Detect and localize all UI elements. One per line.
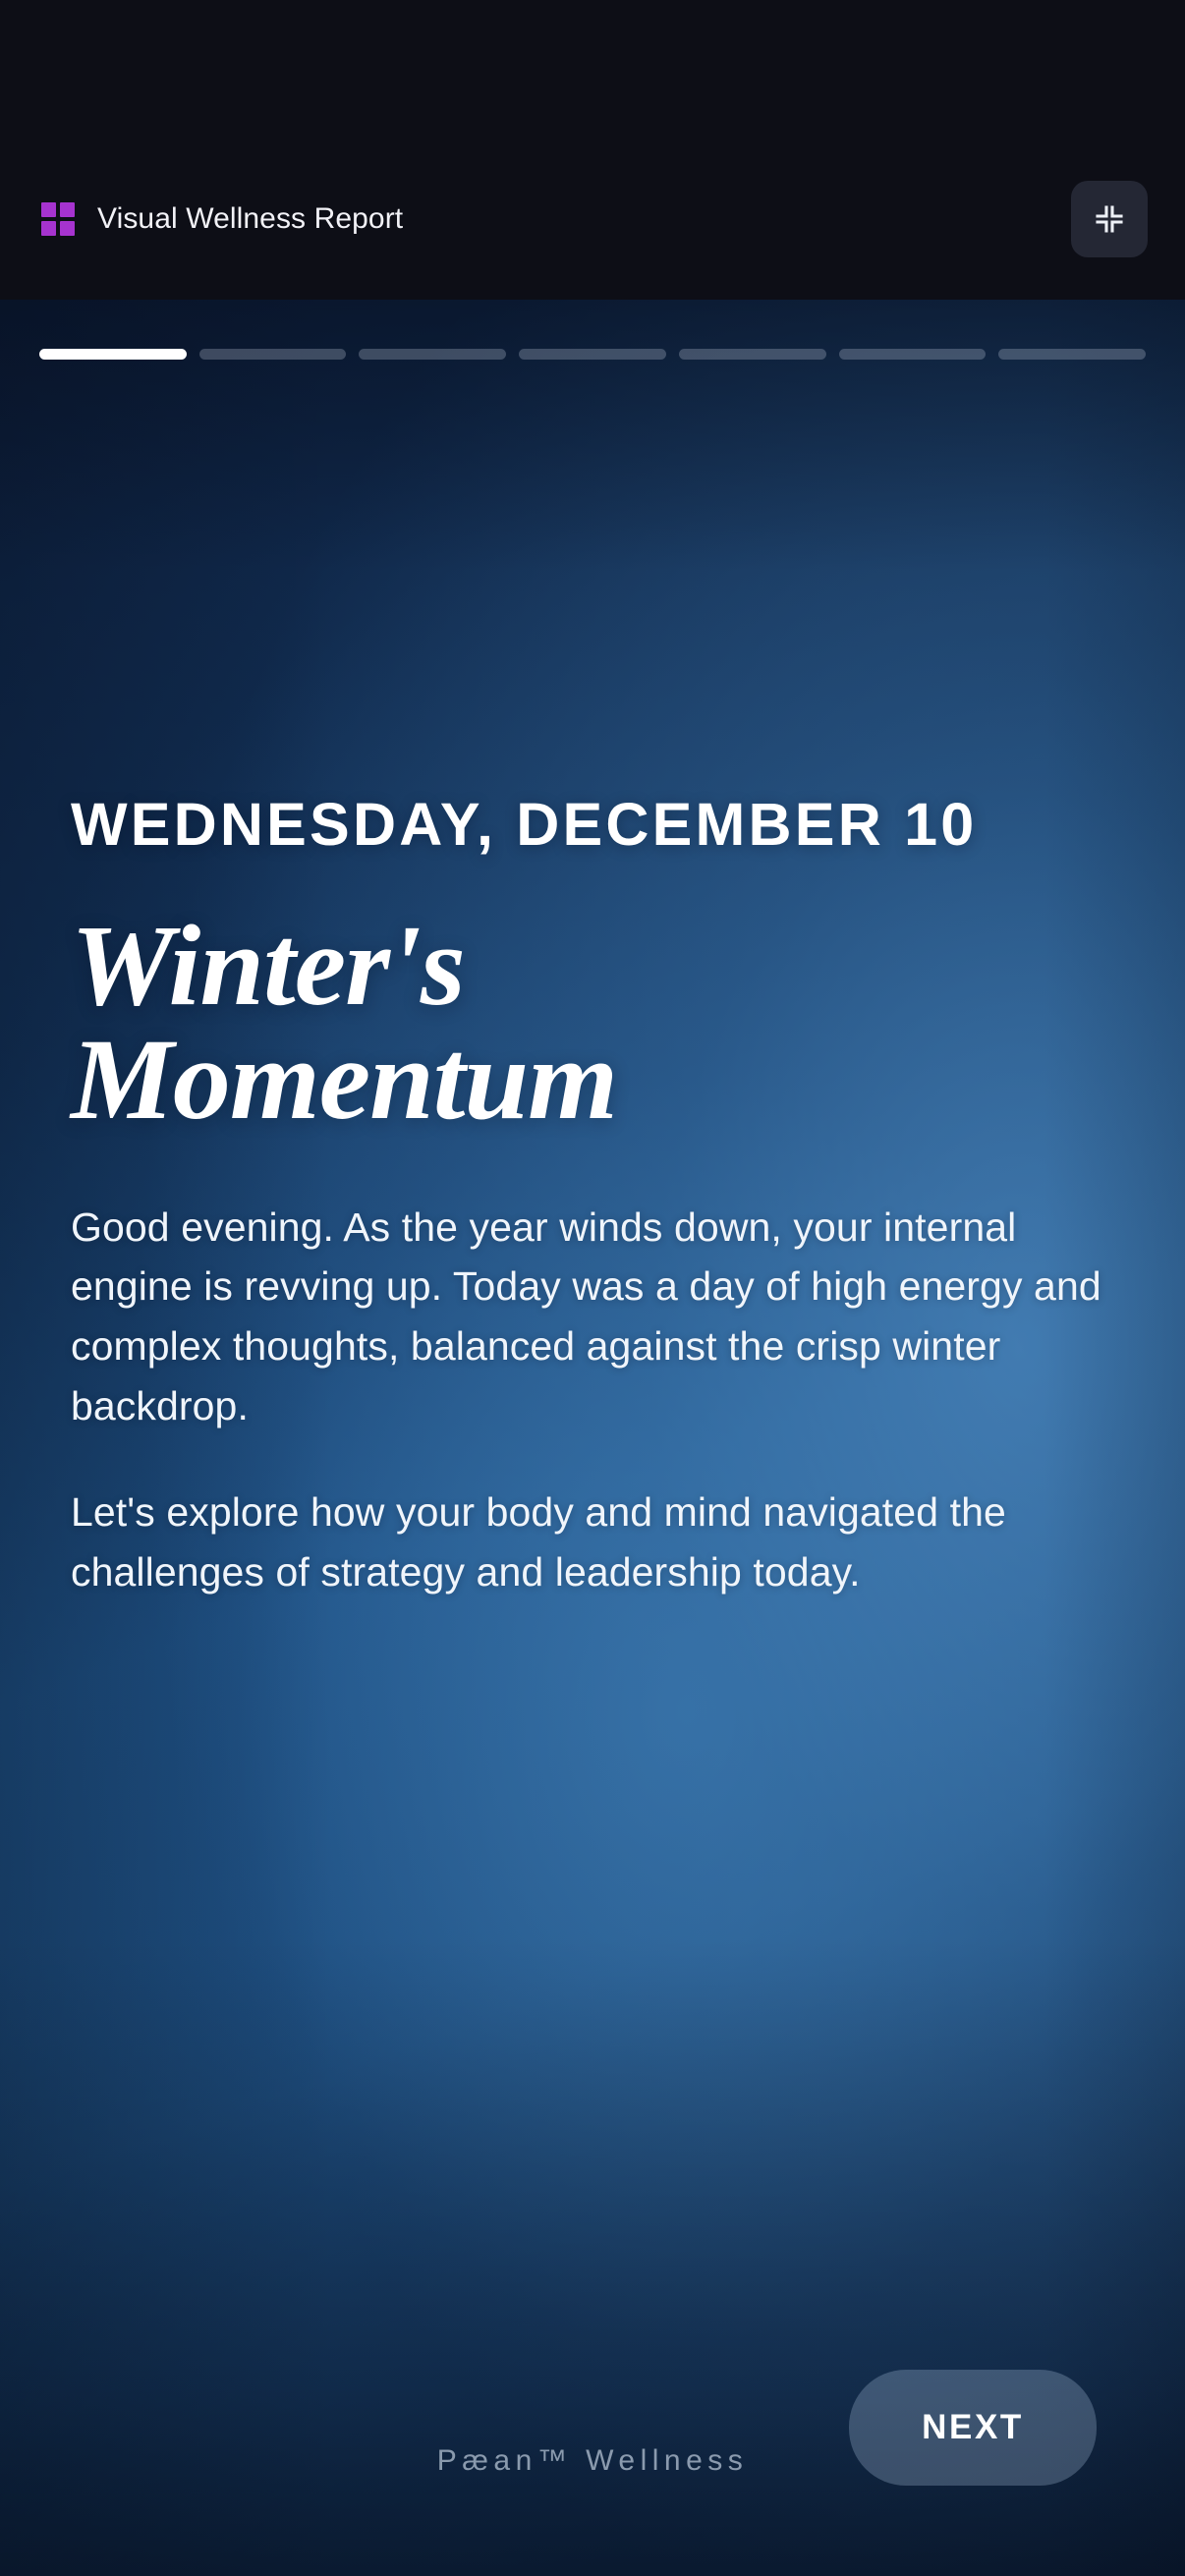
slide-paragraph: Let's explore how your body and mind nav… xyxy=(71,1483,1114,1601)
slide-text-block: WEDNESDAY, DECEMBER 10 Winter's Momentum… xyxy=(71,791,1114,1602)
slide-content: WEDNESDAY, DECEMBER 10 Winter's Momentum… xyxy=(0,300,1185,2576)
slide-headline: Winter's Momentum xyxy=(71,909,935,1136)
app-header-content: Visual Wellness Report xyxy=(0,138,1185,300)
progress-segment-6[interactable] xyxy=(839,349,987,360)
progress-segment-1[interactable] xyxy=(39,349,187,360)
progress-segment-5[interactable] xyxy=(679,349,826,360)
app-brand: Visual Wellness Report xyxy=(41,202,1071,236)
page-title: Visual Wellness Report xyxy=(97,202,403,236)
exit-fullscreen-button[interactable] xyxy=(1071,181,1148,257)
app-header: Visual Wellness Report xyxy=(0,0,1185,300)
slide-paragraph: Good evening. As the year winds down, yo… xyxy=(71,1198,1114,1436)
slide-paragraphs: Good evening. As the year winds down, yo… xyxy=(71,1198,1114,1602)
exit-fullscreen-icon xyxy=(1094,203,1125,235)
next-button[interactable]: NEXT xyxy=(849,2370,1097,2486)
grid-2x2-icon xyxy=(41,202,75,236)
progress-segment-2[interactable] xyxy=(199,349,347,360)
progress-segment-4[interactable] xyxy=(519,349,666,360)
progress-segment-3[interactable] xyxy=(359,349,506,360)
progress-segment-7[interactable] xyxy=(998,349,1146,360)
slide-date-label: WEDNESDAY, DECEMBER 10 xyxy=(71,791,1053,858)
slide-progress-bar[interactable] xyxy=(39,349,1146,360)
report-screen: Visual Wellness Report xyxy=(0,0,1185,2576)
slide-footer: Pæan™ Wellness NEXT xyxy=(0,2281,1185,2576)
